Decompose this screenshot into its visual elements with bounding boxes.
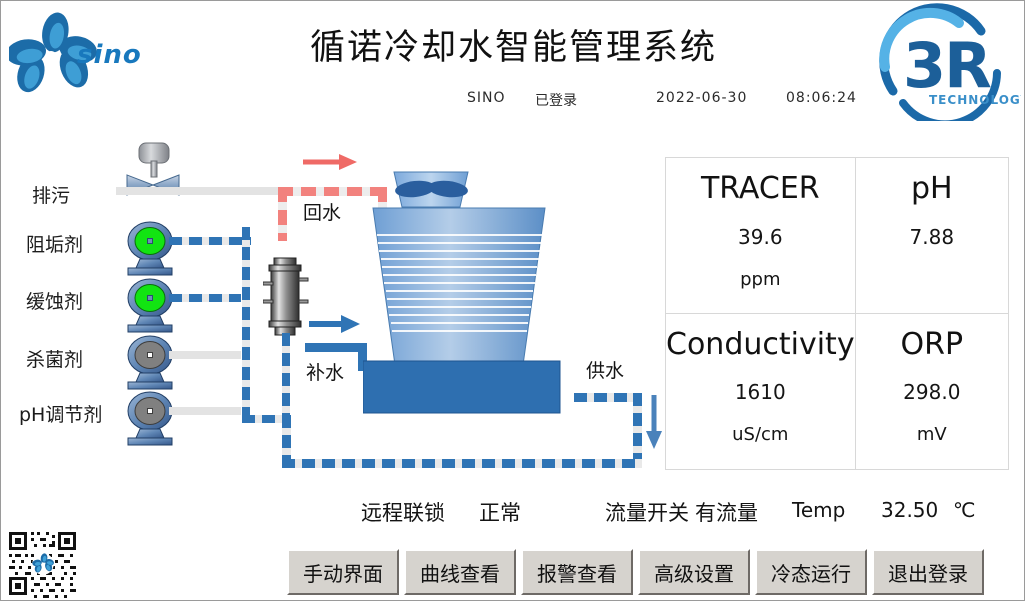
main-loop-bottom-pipe	[282, 459, 642, 468]
status-bar: 远程联锁 正常 流量开关 有流量 Temp 32.50 ℃	[1, 497, 1025, 531]
interlock-value: 正常	[479, 497, 521, 527]
side-stream-filter[interactable]	[263, 256, 311, 338]
3r-technology-logo: 3R TECHNOLOGY	[863, 3, 1021, 121]
measure-name: pH	[911, 172, 953, 207]
temperature-label: Temp	[792, 498, 845, 522]
dosing-line-antiscalant	[169, 237, 251, 245]
button-logout[interactable]: 退出登录	[872, 549, 984, 595]
flowswitch-value: 有流量	[695, 497, 758, 527]
chem-label-antiscalant: 阻垢剂	[26, 230, 83, 257]
button-advanced-setup[interactable]: 高级设置	[638, 549, 750, 595]
measurement-cell-ph: pH 7.88	[856, 158, 1008, 314]
temperature-unit: ℃	[953, 498, 975, 522]
measure-name: TRACER	[701, 172, 820, 207]
supply-water-label: 供水	[584, 356, 626, 383]
return-water-label: 回水	[301, 198, 343, 225]
button-trend-view[interactable]: 曲线查看	[404, 549, 516, 595]
measure-value: 7.88	[910, 225, 955, 249]
chem-label-inhibitor: 缓蚀剂	[26, 287, 83, 314]
temperature-value: 32.50	[881, 498, 938, 522]
measure-value: 39.6	[738, 225, 783, 249]
logged-user: SINO	[467, 90, 506, 106]
measure-unit: uS/cm	[732, 424, 788, 445]
cooling-tower	[363, 165, 613, 415]
chem-label-ph-adjust: pH调节剂	[19, 400, 102, 427]
dosing-line-ph	[169, 407, 241, 415]
main-loop-left-riser	[282, 415, 291, 467]
measurement-cell-conductivity: Conductivity 1610 uS/cm	[666, 314, 856, 470]
dosing-line-biocide	[169, 351, 241, 359]
pump-ph-adjust[interactable]	[119, 391, 181, 447]
measure-name: ORP	[901, 328, 964, 363]
button-manual-screen[interactable]: 手动界面	[287, 549, 399, 595]
measure-unit: mV	[917, 424, 947, 445]
qr-code	[6, 529, 88, 599]
login-status: 已登录	[535, 90, 577, 110]
chem-label-biocide: 杀菌剂	[26, 345, 83, 372]
flowswitch-label: 流量开关	[605, 497, 689, 527]
return-water-pipe-left	[278, 187, 287, 241]
blowdown-pipe	[116, 187, 281, 195]
measure-name: Conductivity	[666, 328, 855, 363]
pump-biocide[interactable]	[119, 335, 181, 391]
pump-inhibitor[interactable]	[119, 278, 181, 334]
dosing-header-riser	[242, 227, 250, 423]
return-water-arrow-icon	[301, 151, 359, 173]
cooling-water-hmi-screen: sino 循诺冷却水智能管理系统 SINO 已登录 2022-06-30 08:…	[0, 0, 1025, 601]
makeup-water-arrow-icon	[307, 313, 361, 335]
measure-value: 1610	[735, 380, 786, 404]
makeup-water-label: 补水	[304, 358, 346, 385]
measurement-cell-orp: ORP 298.0 mV	[856, 314, 1008, 470]
supply-water-pipe-right	[633, 393, 642, 467]
header: sino 循诺冷却水智能管理系统 SINO 已登录 2022-06-30 08:…	[1, 1, 1025, 123]
measurement-cell-tracer: TRACER 39.6 ppm	[666, 158, 856, 314]
measurement-panel: TRACER 39.6 ppm pH 7.88 Conductivity 161…	[665, 157, 1009, 470]
measure-unit: ppm	[740, 269, 780, 290]
button-bar: 手动界面 曲线查看 报警查看 高级设置 冷态运行 退出登录	[287, 549, 984, 595]
button-alarm-view[interactable]: 报警查看	[521, 549, 633, 595]
filter-outlet-pipe	[282, 333, 290, 421]
measure-value: 298.0	[903, 380, 960, 404]
3r-logo-text: 3R	[903, 29, 991, 102]
system-time: 08:06:24	[786, 90, 857, 106]
dosing-line-inhibitor	[169, 294, 241, 302]
system-date: 2022-06-30	[656, 90, 747, 106]
supply-water-pipe-top	[574, 393, 642, 402]
button-cold-run[interactable]: 冷态运行	[755, 549, 867, 595]
3r-logo-subtext: TECHNOLOGY	[929, 93, 1021, 107]
supply-water-arrow-icon	[643, 393, 665, 451]
chem-label-blowdown: 排污	[32, 181, 70, 208]
pump-antiscalant[interactable]	[119, 221, 181, 277]
interlock-label: 远程联锁	[361, 497, 445, 527]
